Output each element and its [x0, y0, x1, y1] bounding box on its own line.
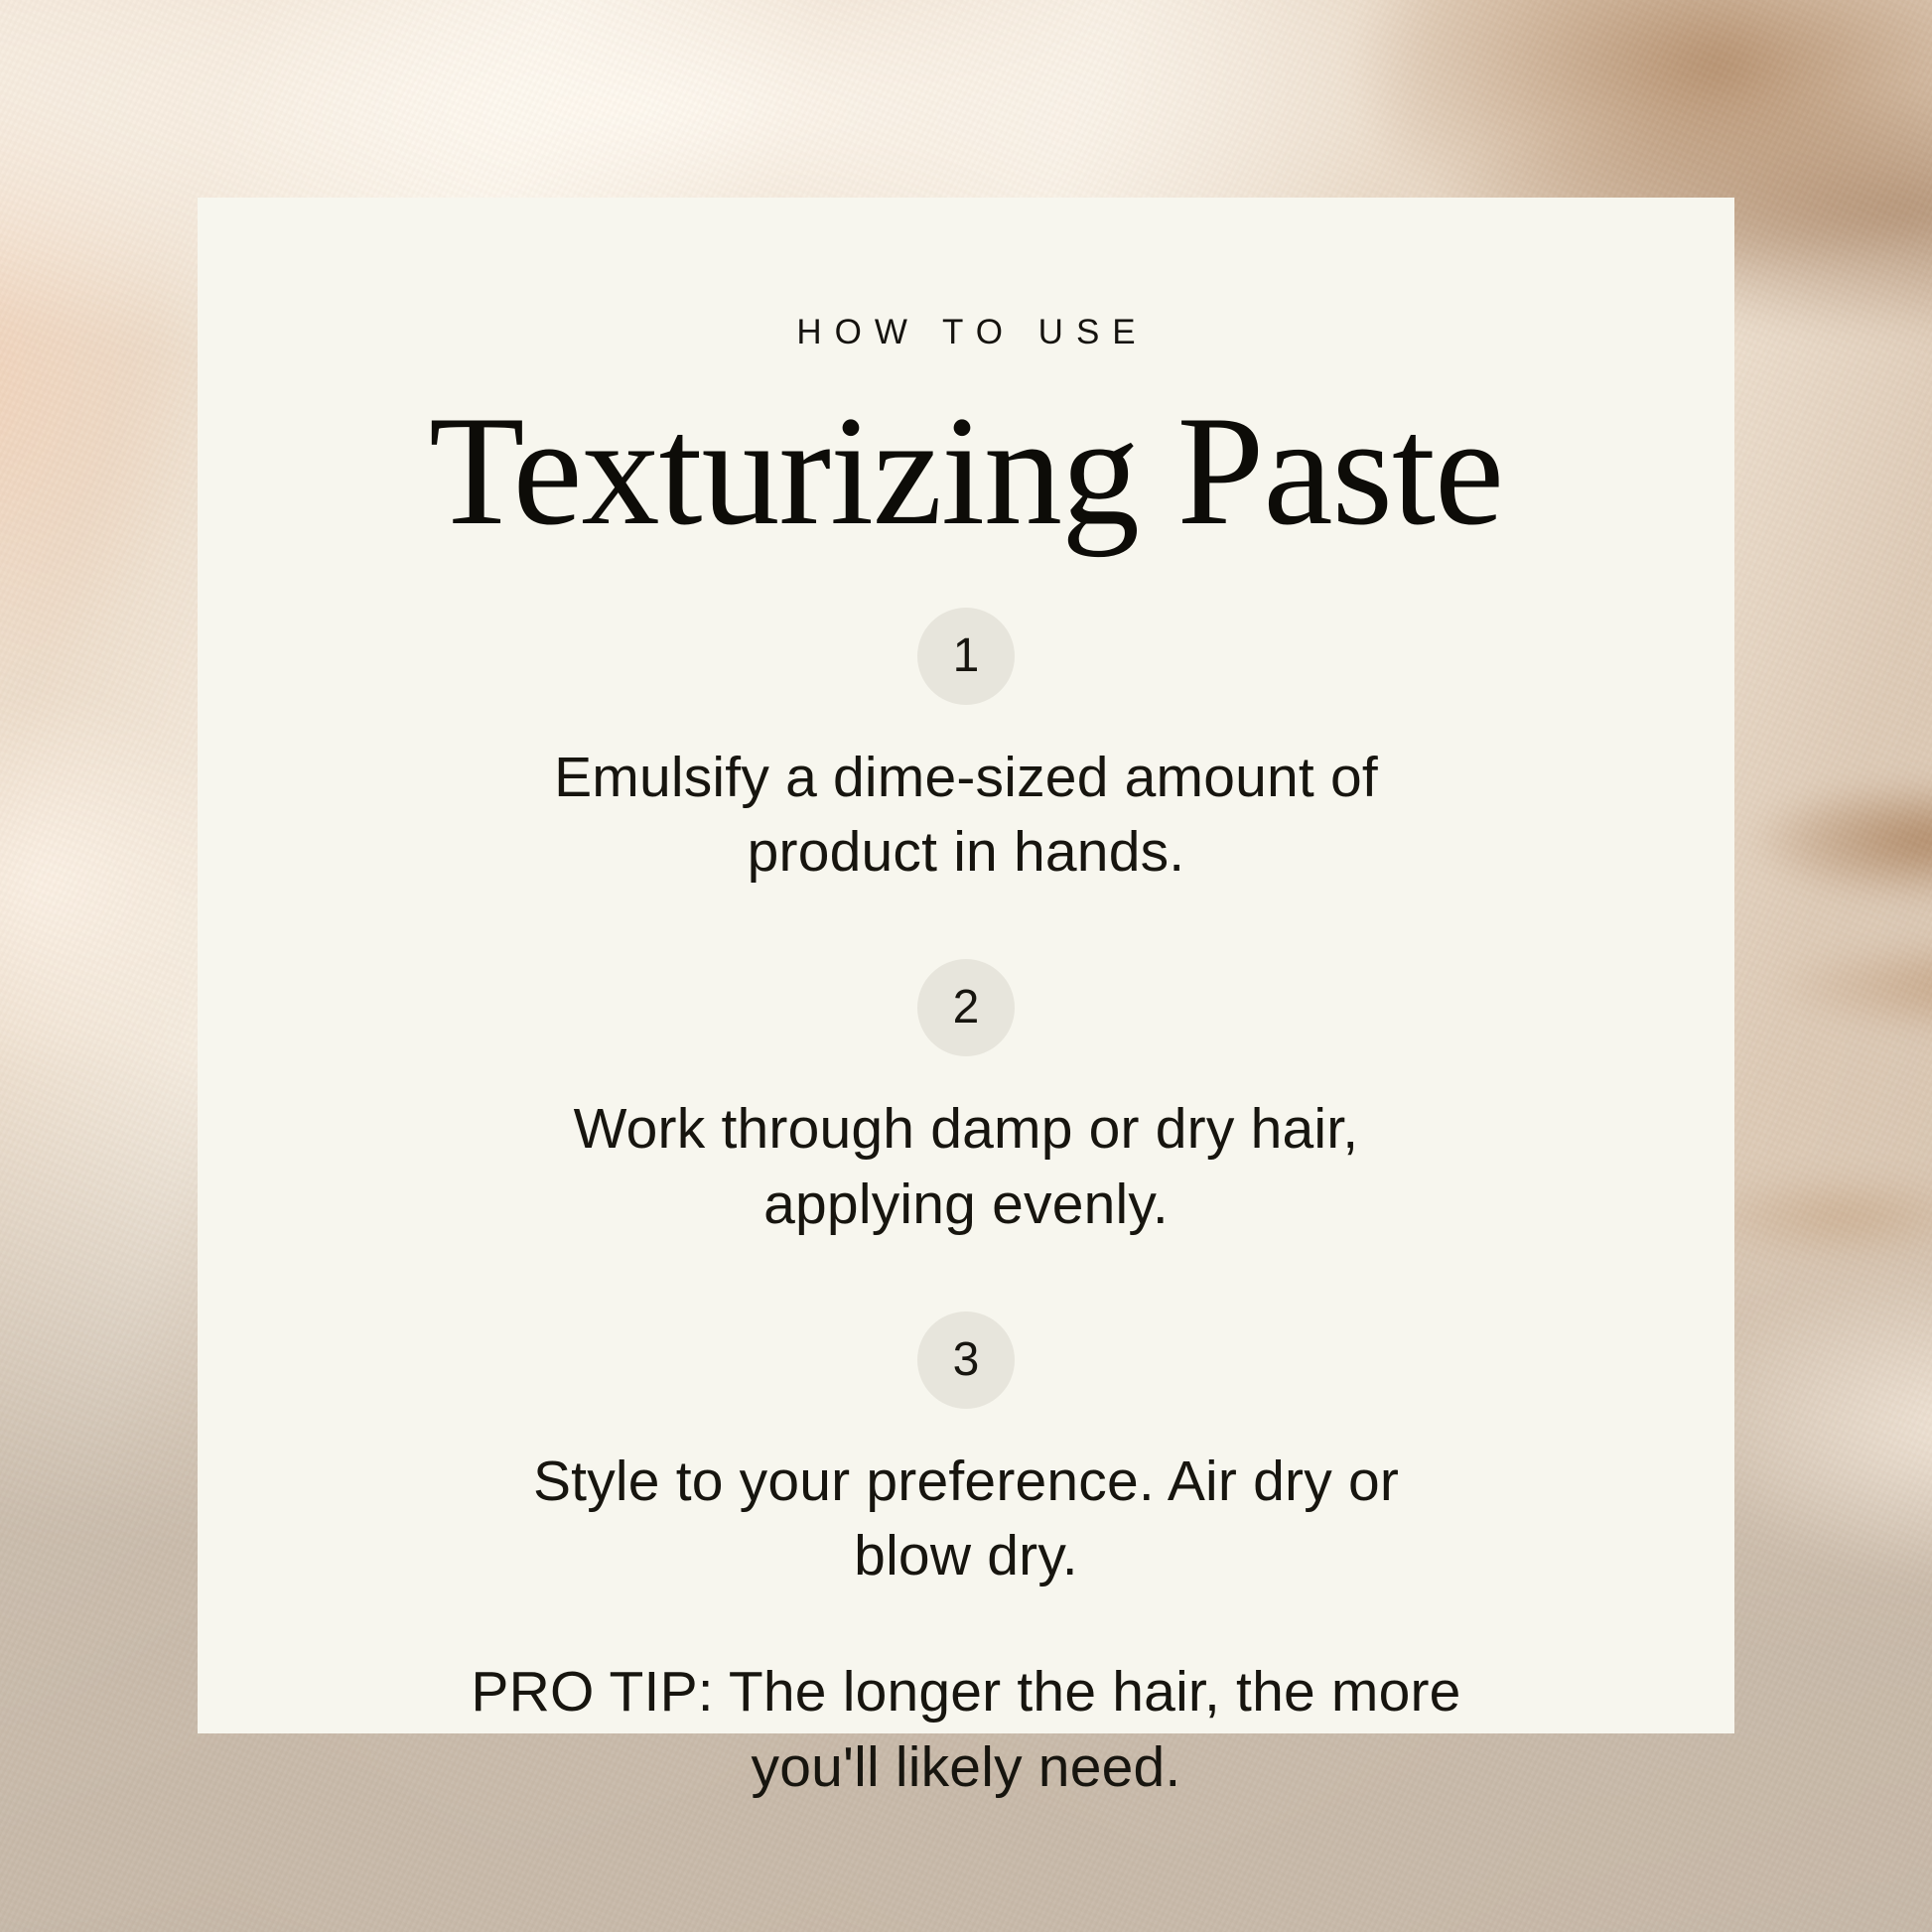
step-item-2: 2 Work through damp or dry hair, applyin…	[198, 959, 1734, 1241]
steps-list: 1 Emulsify a dime-sized amount of produc…	[198, 550, 1734, 1593]
eyebrow-label: HOW TO USE	[783, 315, 1148, 349]
step-number-badge-3: 3	[917, 1311, 1015, 1409]
step-description-2: Work through damp or dry hair, applying …	[470, 1092, 1462, 1241]
step-item-1: 1 Emulsify a dime-sized amount of produc…	[198, 608, 1734, 890]
page-title: Texturizing Paste	[429, 393, 1503, 550]
step-item-3: 3 Style to your preference. Air dry or b…	[198, 1311, 1734, 1593]
how-to-use-card: HOW TO USE Texturizing Paste 1 Emulsify …	[198, 198, 1734, 1733]
step-number-badge-1: 1	[917, 608, 1015, 705]
pro-tip-text: PRO TIP: The longer the hair, the more y…	[410, 1655, 1522, 1804]
instruction-card-stage: HOW TO USE Texturizing Paste 1 Emulsify …	[0, 0, 1932, 1932]
step-description-1: Emulsify a dime-sized amount of product …	[470, 741, 1462, 890]
step-number-badge-2: 2	[917, 959, 1015, 1056]
step-description-3: Style to your preference. Air dry or blo…	[470, 1445, 1462, 1593]
